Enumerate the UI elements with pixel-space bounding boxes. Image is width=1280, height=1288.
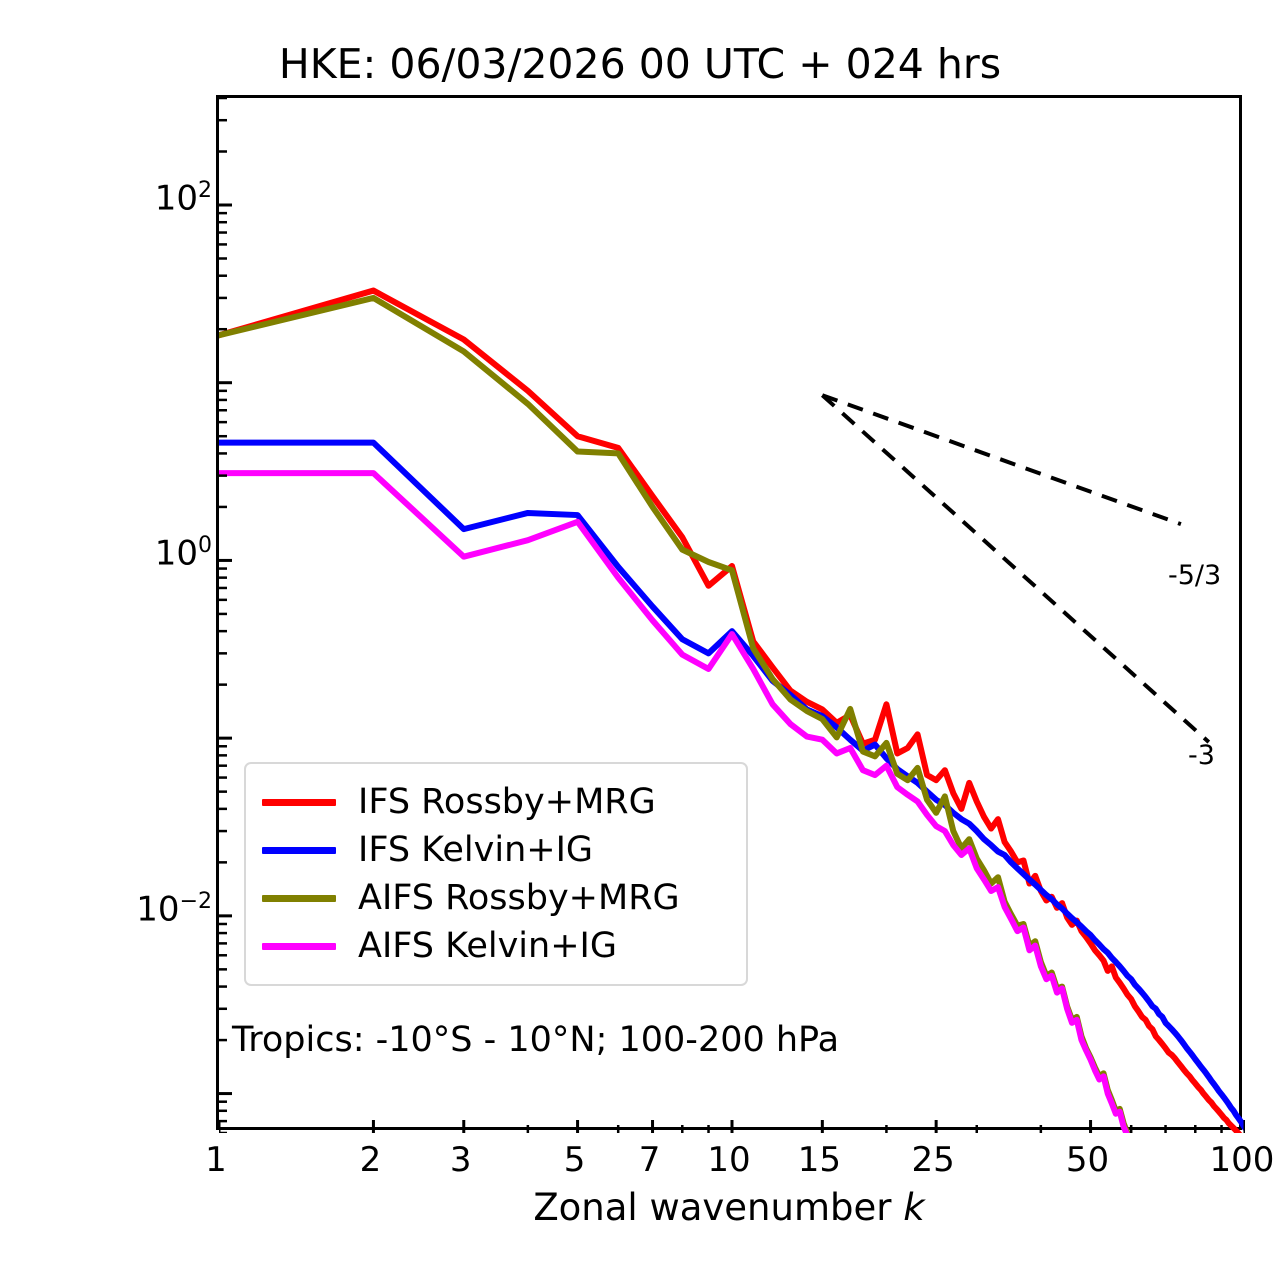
legend-item: IFS Rossby+MRG: [262, 778, 730, 826]
y-tick-label-102: 102: [155, 180, 212, 215]
legend-swatch-aifs-rossby-mrg: [262, 895, 336, 902]
x-tick-label-15: 15: [798, 1140, 841, 1180]
x-tick-label-2: 2: [360, 1140, 382, 1180]
slope-label--3: -3: [1188, 740, 1215, 771]
legend-item: AIFS Kelvin+IG: [262, 922, 730, 970]
legend-item: AIFS Rossby+MRG: [262, 874, 730, 922]
page-title: HKE: 06/03/2026 00 UTC + 024 hrs: [0, 40, 1280, 88]
series-line-aifs-rossby-mrg: [219, 298, 1166, 1133]
x-axis-label-text: Zonal wavenumber: [533, 1186, 903, 1229]
x-tick-label-1: 1: [205, 1140, 227, 1180]
legend-label-aifs-kelvin-ig: AIFS Kelvin+IG: [358, 929, 617, 964]
x-tick-label-7: 7: [639, 1140, 661, 1180]
y-tick-label-100: 100: [155, 535, 212, 570]
legend-swatch-ifs-rossby-mrg: [262, 799, 336, 806]
x-axis-label: Zonal wavenumber k: [216, 1186, 1242, 1229]
legend-swatch-aifs-kelvin-ig: [262, 943, 336, 950]
reference-line--5-3: [822, 395, 1181, 524]
legend-label-ifs-kelvin-ig: IFS Kelvin+IG: [358, 833, 593, 868]
x-axis-symbol: k: [903, 1186, 924, 1229]
x-tick-label-25: 25: [912, 1140, 955, 1180]
legend-label-ifs-rossby-mrg: IFS Rossby+MRG: [358, 785, 656, 820]
legend-label-aifs-rossby-mrg: AIFS Rossby+MRG: [358, 881, 680, 916]
chart-figure: HKE: 06/03/2026 00 UTC + 024 hrs Horizon…: [0, 0, 1280, 1288]
x-tick-label-5: 5: [564, 1140, 586, 1180]
legend: IFS Rossby+MRG IFS Kelvin+IG AIFS Rossby…: [244, 762, 748, 986]
legend-swatch-ifs-kelvin-ig: [262, 847, 336, 854]
x-tick-label-100: 100: [1210, 1140, 1275, 1180]
region-annotation: Tropics: -10°S - 10°N; 100-200 hPa: [232, 1020, 839, 1060]
series-line-ifs-rossby-mrg: [219, 291, 1245, 1133]
x-tick-label-10: 10: [707, 1140, 750, 1180]
legend-item: IFS Kelvin+IG: [262, 826, 730, 874]
x-tick-label-50: 50: [1066, 1140, 1109, 1180]
reference-line--3: [822, 395, 1208, 742]
slope-label--5-3: -5/3: [1168, 560, 1221, 591]
y-tick-label-102: 10−2: [136, 891, 212, 926]
x-tick-label-3: 3: [450, 1140, 472, 1180]
